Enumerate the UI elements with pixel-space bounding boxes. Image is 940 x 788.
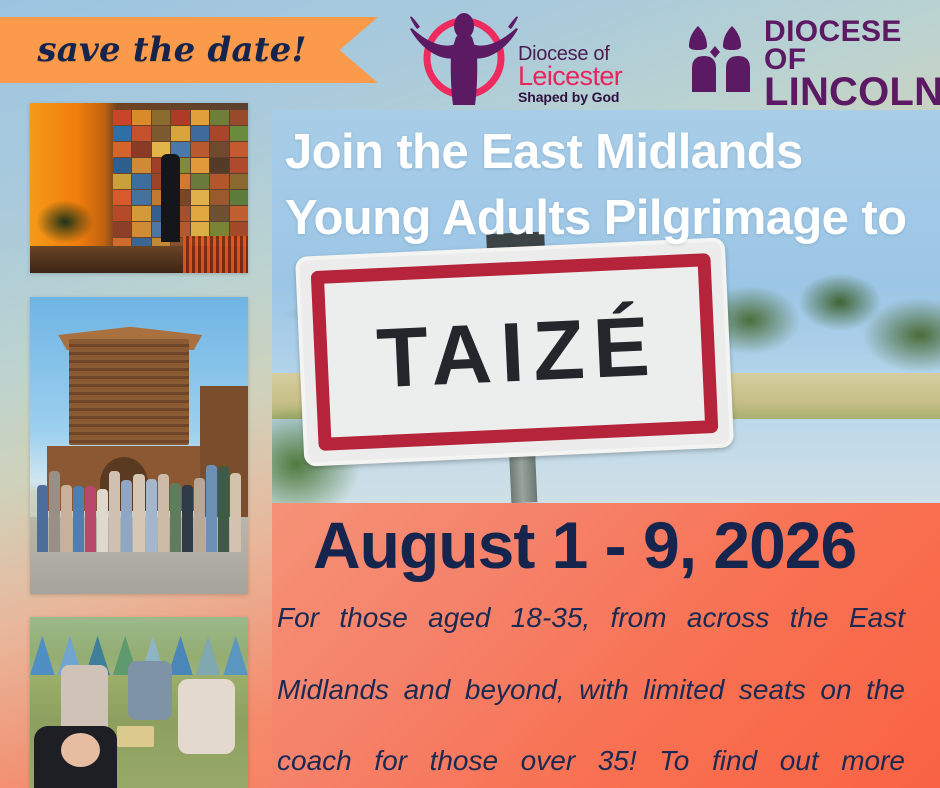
chapel-wall-tile <box>113 174 131 189</box>
chapel-wall-tile <box>132 174 150 189</box>
sign-place-name: TAIZÉ <box>369 304 660 401</box>
chapel-wall-tile <box>152 126 170 141</box>
photo-campsite-cards <box>30 617 248 788</box>
event-date: August 1 - 9, 2026 <box>313 512 933 578</box>
bell-tower-group <box>37 451 242 552</box>
headline-line-2: Young Adults Pilgrimage to <box>285 186 935 252</box>
lincoln-towers-icon <box>688 24 754 92</box>
chapel-person-silhouette <box>161 154 181 242</box>
chapel-wall-tile <box>191 206 209 221</box>
group-person <box>49 471 60 553</box>
chapel-wall-tile <box>113 206 131 221</box>
chapel-plant <box>37 181 94 249</box>
leicester-wordmark: Diocese of Leicester Shaped by God <box>518 44 622 104</box>
campsite-person-b <box>128 661 172 719</box>
bell-tower-slats <box>69 339 189 446</box>
chapel-wall-tile <box>230 142 248 157</box>
chapel-wall-tile <box>171 126 189 141</box>
campsite-bench <box>117 726 154 747</box>
chapel-wall-tile <box>230 158 248 173</box>
chapel-wall-tile <box>230 126 248 141</box>
tent <box>30 636 55 675</box>
description-line-1: For those aged 18-35, from across the Ea… <box>277 600 905 672</box>
chapel-wall-tile <box>191 126 209 141</box>
chapel-wall-tile <box>152 110 170 125</box>
chapel-wall-tile <box>191 190 209 205</box>
sign-board: TAIZÉ <box>295 237 734 466</box>
chapel-wall-tile <box>230 190 248 205</box>
group-person <box>182 485 193 553</box>
chapel-wall-tile <box>132 126 150 141</box>
photo-candle-chapel <box>30 103 248 273</box>
chapel-wall-tile <box>210 142 228 157</box>
event-description: For those aged 18-35, from across the Ea… <box>277 600 905 788</box>
chapel-wall-tile <box>191 174 209 189</box>
group-person <box>121 480 132 553</box>
page-title: Join the East Midlands Young Adults Pilg… <box>285 120 935 251</box>
chapel-wall-tile <box>132 142 150 157</box>
group-person <box>109 471 120 553</box>
group-person <box>194 478 205 553</box>
diocese-of-lincoln-logo: DIOCESE OF LINCOLN <box>688 20 933 98</box>
group-person <box>218 466 229 553</box>
group-person <box>37 485 48 553</box>
headline-line-1: Join the East Midlands <box>285 120 935 186</box>
chapel-wall-tile <box>210 190 228 205</box>
chapel-wall-tile <box>113 126 131 141</box>
chapel-wall-tile <box>210 222 228 237</box>
chapel-wall-tile <box>132 110 150 125</box>
leicester-figure-icon <box>400 6 530 110</box>
campsite-person-c <box>178 679 235 754</box>
lincoln-wordmark: DIOCESE OF LINCOLN <box>764 18 940 112</box>
lincoln-line-1: DIOCESE OF <box>764 18 940 74</box>
photo-group-bell-tower <box>30 297 248 594</box>
chapel-wall-tile <box>132 190 150 205</box>
chapel-wall-tile <box>132 158 150 173</box>
leicester-line-2: Leicester <box>518 63 622 90</box>
chapel-wall-tile <box>210 126 228 141</box>
tent <box>196 636 221 675</box>
chapel-wall-tile <box>113 222 131 237</box>
group-person <box>85 486 96 553</box>
chapel-wall-tile <box>191 142 209 157</box>
group-person <box>146 479 157 553</box>
chapel-wall-tile <box>210 110 228 125</box>
chapel-wall-tile <box>191 110 209 125</box>
group-person <box>97 489 108 553</box>
tent <box>223 636 248 675</box>
chapel-candles <box>183 236 248 273</box>
group-person <box>206 465 217 553</box>
description-line-2: Midlands and beyond, with limited seats … <box>277 672 905 744</box>
chapel-wall-tile <box>230 110 248 125</box>
chapel-wall-tile <box>230 222 248 237</box>
poster-canvas: TAIZÉ Join the East Midlands Young Adult… <box>0 0 940 788</box>
chapel-wall-tile <box>113 190 131 205</box>
tent <box>168 636 193 675</box>
chapel-wall-tile <box>171 110 189 125</box>
chapel-wall-tile <box>132 206 150 221</box>
chapel-wall-tile <box>191 222 209 237</box>
campsite-person-d-face <box>61 733 100 767</box>
save-the-date-banner: save the date! <box>0 17 378 83</box>
chapel-wall-tile <box>210 158 228 173</box>
group-person <box>73 486 84 553</box>
group-person <box>158 474 169 553</box>
chapel-wall-tile <box>191 158 209 173</box>
chapel-wall-tile <box>210 206 228 221</box>
group-person <box>170 483 181 553</box>
chapel-wall-tile <box>113 158 131 173</box>
save-the-date-label: save the date! <box>37 30 334 70</box>
chapel-wall-tile <box>113 110 131 125</box>
taize-road-sign: TAIZÉ <box>295 237 735 486</box>
group-person <box>230 473 241 553</box>
chapel-wall-tile <box>230 206 248 221</box>
diocese-of-leicester-logo: Diocese of Leicester Shaped by God <box>400 6 650 114</box>
chapel-wall-tile <box>132 222 150 237</box>
leicester-tagline: Shaped by God <box>518 90 622 104</box>
lincoln-line-2: LINCOLN <box>764 74 940 112</box>
chapel-wall-tile <box>230 174 248 189</box>
group-person <box>133 474 144 553</box>
chapel-wall-tile <box>210 174 228 189</box>
group-person <box>61 485 72 553</box>
sign-inner-border: TAIZÉ <box>311 253 719 451</box>
chapel-colour-wall <box>113 110 248 253</box>
chapel-wall-tile <box>113 142 131 157</box>
description-line-3: coach for those over 35! To find out mor… <box>277 743 905 788</box>
